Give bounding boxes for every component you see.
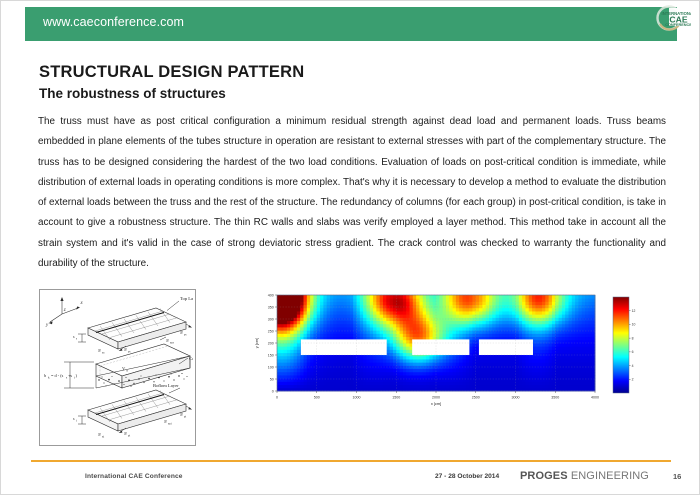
footer-page-number: 16: [673, 472, 681, 481]
svg-text:xyi: xyi: [168, 422, 172, 425]
svg-text:6: 6: [632, 350, 634, 354]
svg-text:ys: ys: [128, 350, 131, 353]
svg-text:350: 350: [268, 305, 274, 309]
svg-text:12: 12: [632, 309, 636, 313]
page-subtitle: The robustness of structures: [39, 86, 226, 101]
svg-text:N: N: [123, 347, 127, 352]
svg-text:Core: Core: [189, 356, 193, 361]
svg-text:xs: xs: [102, 351, 105, 354]
svg-text:3000: 3000: [512, 396, 520, 400]
svg-text:250: 250: [268, 329, 274, 333]
svg-text:): ): [76, 373, 78, 378]
svg-text:N: N: [163, 419, 167, 424]
svg-text:N: N: [97, 432, 101, 437]
svg-text:= d - (s: = d - (s: [51, 373, 64, 378]
svg-text:N: N: [123, 431, 127, 436]
svg-text:s: s: [73, 334, 75, 339]
svg-text:300: 300: [268, 317, 274, 321]
svg-text:ys: ys: [184, 333, 187, 336]
svg-text:4: 4: [632, 364, 634, 368]
svg-text:N: N: [179, 412, 183, 417]
footer-brand-light: ENGINEERING: [568, 470, 649, 482]
body-paragraph: The truss must have as post critical con…: [38, 112, 666, 274]
svg-text:h: h: [44, 373, 46, 378]
svg-text:xys: xys: [170, 341, 174, 344]
cae-conference-logo-icon: INTERNATIONAL CAE CONFERENCE: [655, 3, 691, 33]
svg-text:y [cm]: y [cm]: [254, 338, 259, 348]
svg-text:2000: 2000: [432, 396, 440, 400]
svg-text:s: s: [76, 337, 77, 340]
contour-void: [301, 339, 387, 355]
svg-text:1000: 1000: [353, 396, 361, 400]
header-url[interactable]: www.caeconference.com: [43, 15, 184, 29]
svg-text:2500: 2500: [472, 396, 480, 400]
footer-rule: [31, 460, 671, 462]
svg-text:xi: xi: [102, 435, 104, 438]
svg-text:200: 200: [268, 341, 274, 345]
svg-text:500: 500: [314, 396, 320, 400]
svg-text:x: x: [80, 301, 84, 306]
svg-text:N: N: [97, 348, 101, 353]
svg-text:150: 150: [268, 353, 274, 357]
svg-text:+s: +s: [68, 373, 72, 378]
svg-text:N: N: [165, 338, 169, 343]
footer-date: 27 - 28 October 2014: [435, 473, 499, 480]
svg-text:0: 0: [276, 396, 278, 400]
svg-text:CONFERENCE: CONFERENCE: [665, 23, 691, 27]
svg-text:0: 0: [272, 389, 274, 393]
svg-text:4000: 4000: [591, 396, 599, 400]
svg-text:z: z: [63, 308, 66, 313]
svg-text:x [cm]: x [cm]: [431, 401, 441, 406]
svg-text:N: N: [179, 330, 183, 335]
svg-text:100: 100: [268, 365, 274, 369]
svg-text:10: 10: [632, 323, 636, 327]
footer-conference: International CAE Conference: [85, 473, 183, 480]
svg-text:50: 50: [270, 377, 274, 381]
svg-text:k: k: [48, 375, 50, 379]
stress-contour-plot: 0500100015002000250030003500400005010015…: [251, 289, 647, 417]
contour-void: [479, 339, 533, 355]
contour-void: [412, 339, 469, 355]
svg-text:i: i: [76, 419, 77, 422]
svg-text:y: y: [45, 323, 49, 328]
svg-text:Top Layer: Top Layer: [180, 296, 193, 301]
svg-text:1500: 1500: [392, 396, 400, 400]
slide-canvas: www.caeconference.com INTERNATIONAL CAE …: [0, 0, 700, 495]
footer-brand: PROGES ENGINEERING: [520, 470, 649, 482]
contour-colorbar: [613, 297, 629, 393]
svg-text:3500: 3500: [551, 396, 559, 400]
sandwich-layer-diagram: x y z: [39, 289, 196, 446]
svg-text:2: 2: [632, 377, 634, 381]
page-title: STRUCTURAL DESIGN PATTERN: [39, 63, 304, 82]
svg-text:8: 8: [632, 336, 634, 340]
svg-text:Bottom Layer: Bottom Layer: [153, 383, 179, 388]
footer-brand-bold: PROGES: [520, 470, 568, 482]
svg-text:s: s: [73, 416, 75, 421]
svg-text:400: 400: [268, 293, 274, 297]
svg-text:yi: yi: [184, 415, 186, 418]
svg-text:yi: yi: [128, 434, 130, 437]
